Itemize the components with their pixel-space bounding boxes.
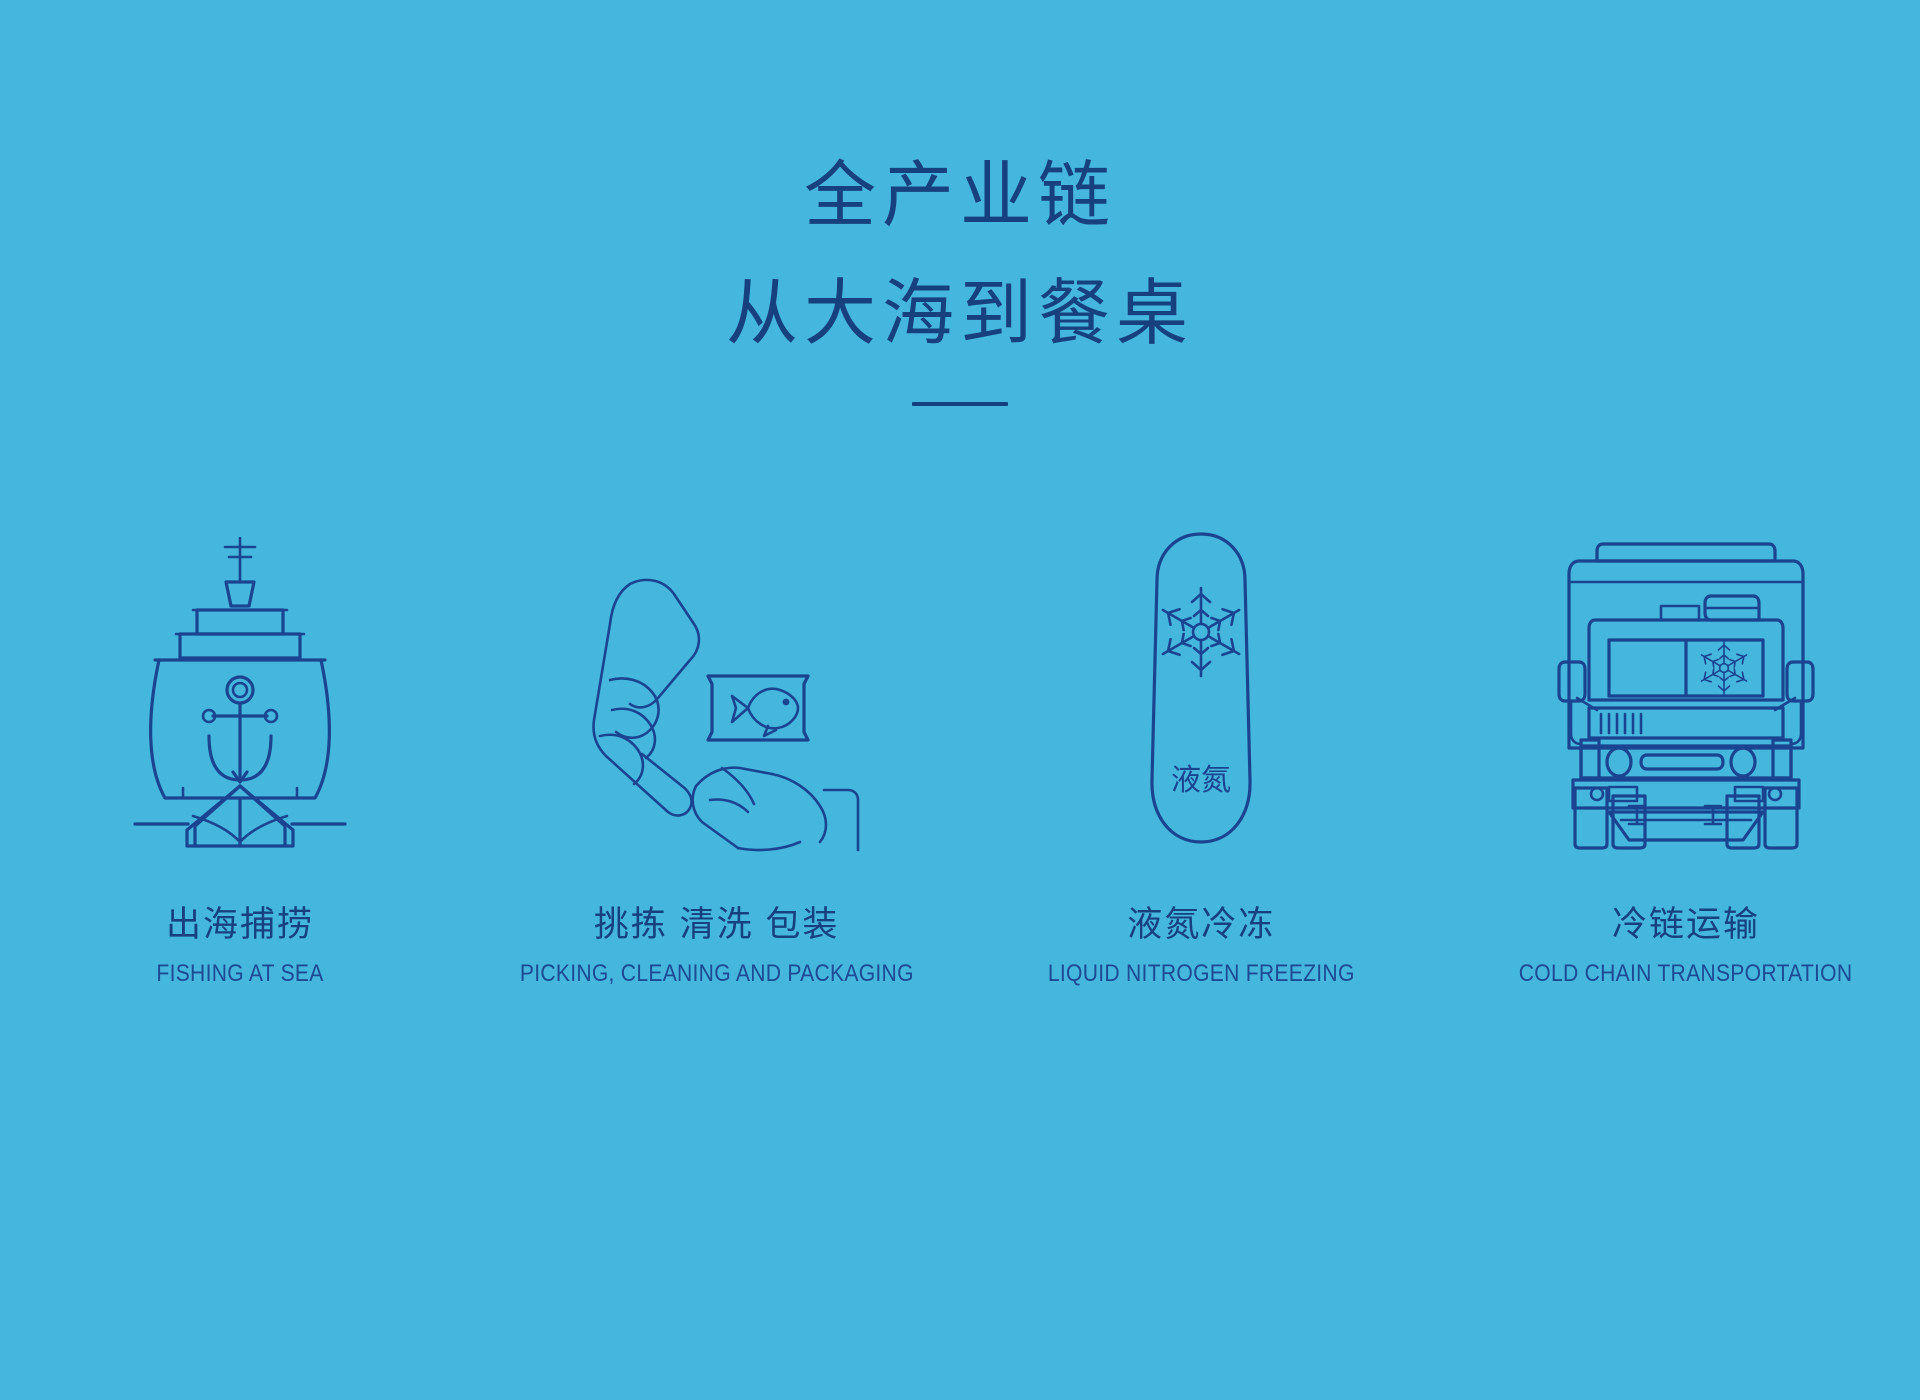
step-title-en: PICKING, CLEANING AND PACKAGING [520,960,914,989]
step-title-en: COLD CHAIN TRANSPORTATION [1519,960,1853,989]
step-fishing-at-sea: 出海捕捞 FISHING AT SEA [10,520,470,989]
hands-packaged-fish-icon [572,520,862,850]
process-steps: 出海捕捞 FISHING AT SEA [0,520,1920,1140]
fishing-boat-anchor-icon [125,520,355,850]
step-liquid-nitrogen-freezing: 液氮 液氮冷冻 LIQUID NITROGEN FREEZING [971,520,1431,989]
page-title: 全产业链 [0,160,1920,232]
step-title-cn: 液氮冷冻 [1027,904,1376,946]
step-caption: 液氮冷冻 LIQUID NITROGEN FREEZING [1027,904,1376,989]
step-caption: 冷链运输 COLD CHAIN TRANSPORTATION [1496,904,1875,989]
divider [0,402,1920,406]
step-title-cn: 挑拣 清洗 包装 [493,904,941,946]
poster-canvas: 全产业链 从大海到餐桌 [0,0,1920,1400]
refrigerated-truck-icon [1551,520,1821,850]
step-title-en: LIQUID NITROGEN FREEZING [1048,960,1355,989]
page-subtitle: 从大海到餐桌 [0,278,1920,350]
step-picking-cleaning-packaging: 挑拣 清洗 包装 PICKING, CLEANING AND PACKAGING [487,520,947,989]
tank-label-text: 液氮 [1171,764,1231,797]
headline-block: 全产业链 从大海到餐桌 [0,160,1920,406]
step-title-cn: 出海捕捞 [145,904,335,946]
step-cold-chain-transportation: 冷链运输 COLD CHAIN TRANSPORTATION [1456,520,1916,989]
divider-rule [912,402,1008,406]
step-title-cn: 冷链运输 [1496,904,1875,946]
step-caption: 出海捕捞 FISHING AT SEA [145,904,335,989]
nitrogen-tank-snowflake-icon: 液氮 [1131,520,1271,850]
step-title-en: FISHING AT SEA [156,960,323,989]
step-caption: 挑拣 清洗 包装 PICKING, CLEANING AND PACKAGING [493,904,941,989]
